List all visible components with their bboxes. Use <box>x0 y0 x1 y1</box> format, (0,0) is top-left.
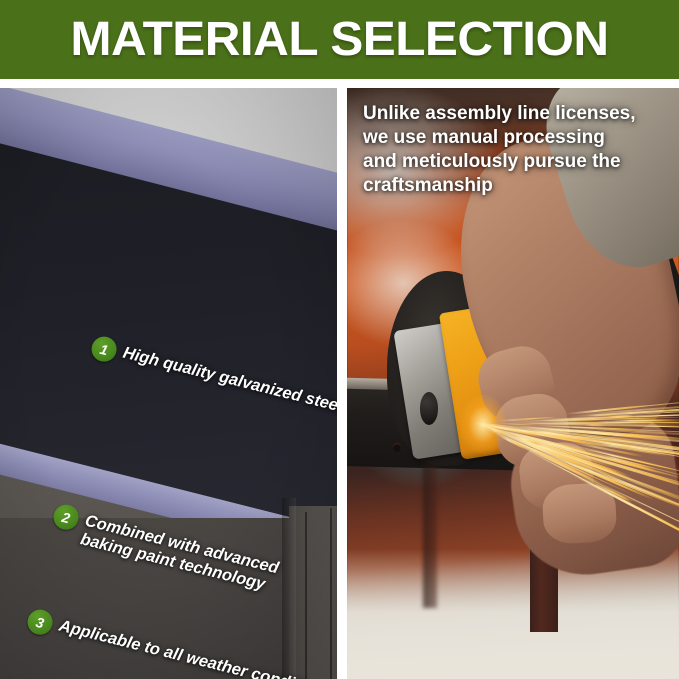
page-title: MATERIAL SELECTION <box>0 0 679 79</box>
left-image-panel: 1 High quality galvanized steel 2 Combin… <box>0 88 337 679</box>
headline-line-2: we use manual processing <box>363 126 653 150</box>
spark-glow <box>460 395 506 454</box>
callout-badge-2: 2 <box>51 502 81 532</box>
headline-line-3: and meticulously pursue the <box>363 150 653 174</box>
right-image-panel: Unlike assembly line licenses, we use ma… <box>347 88 679 679</box>
grinder-knob <box>420 392 438 425</box>
headline-line-1: Unlike assembly line licenses, <box>363 102 653 126</box>
right-panel-headline: Unlike assembly line licenses, we use ma… <box>363 102 653 198</box>
content-stage: 1 High quality galvanized steel 2 Combin… <box>0 79 679 679</box>
header-banner: MATERIAL SELECTION <box>0 0 679 79</box>
panel-divider <box>337 158 347 679</box>
headline-line-4: craftsmanship <box>363 174 653 198</box>
background-post <box>423 466 436 608</box>
material-selection-infographic: MATERIAL SELECTION 1 High quality galvan… <box>0 0 679 679</box>
worker-finger <box>541 482 617 545</box>
